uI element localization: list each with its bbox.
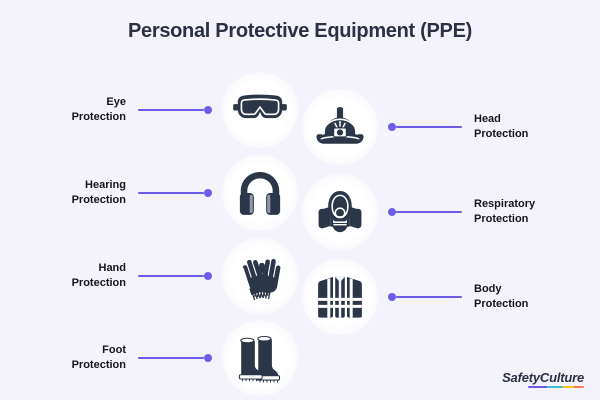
connector-hearing-protection <box>138 188 212 198</box>
ppe-item-foot-protection: Foot Protection <box>28 320 300 396</box>
ppe-item-body-protection: Body Protection <box>302 259 592 335</box>
connector-hand-protection <box>138 271 212 281</box>
connector-foot-protection <box>138 353 212 363</box>
hard-hat-icon <box>302 89 378 165</box>
safety-goggles-icon <box>222 72 298 148</box>
connector-respiratory-protection <box>388 207 462 217</box>
ppe-item-eye-protection: Eye Protection <box>28 72 300 148</box>
connector-dot <box>204 189 212 197</box>
connector-line <box>138 357 204 359</box>
connector-head-protection <box>388 122 462 132</box>
ppe-label-hearing-protection: Hearing Protection <box>28 178 126 208</box>
respirator-mask-icon <box>302 174 378 250</box>
safetyculture-logo: SafetyCulture <box>502 370 584 388</box>
connector-line <box>396 126 462 128</box>
connector-dot <box>204 106 212 114</box>
logo-underline <box>528 386 584 388</box>
connector-dot <box>388 123 396 131</box>
ppe-label-body-protection: Body Protection <box>474 282 578 312</box>
safety-vest-icon <box>302 259 378 335</box>
ppe-item-hand-protection: Hand Protection <box>28 238 300 314</box>
ppe-label-head-protection: Head Protection <box>474 112 578 142</box>
connector-line <box>396 296 462 298</box>
connector-line <box>138 192 204 194</box>
page-title: Personal Protective Equipment (PPE) <box>0 20 600 43</box>
logo-text: SafetyCulture <box>502 370 584 385</box>
safety-boots-icon <box>222 320 298 396</box>
ppe-label-hand-protection: Hand Protection <box>28 261 126 291</box>
ear-muffs-icon <box>222 155 298 231</box>
connector-eye-protection <box>138 105 212 115</box>
connector-dot <box>204 354 212 362</box>
connector-dot <box>204 272 212 280</box>
ppe-item-respiratory-protection: Respiratory Protection <box>302 174 592 250</box>
connector-line <box>396 211 462 213</box>
ppe-infographic: Personal Protective Equipment (PPE) Eye … <box>0 0 600 400</box>
ppe-item-head-protection: Head Protection <box>302 89 592 165</box>
ppe-label-eye-protection: Eye Protection <box>28 95 126 125</box>
connector-dot <box>388 293 396 301</box>
connector-dot <box>388 208 396 216</box>
connector-line <box>138 109 204 111</box>
safety-gloves-icon <box>222 238 298 314</box>
ppe-item-hearing-protection: Hearing Protection <box>28 155 300 231</box>
ppe-label-respiratory-protection: Respiratory Protection <box>474 197 578 227</box>
ppe-label-foot-protection: Foot Protection <box>28 343 126 373</box>
connector-body-protection <box>388 292 462 302</box>
connector-line <box>138 275 204 277</box>
